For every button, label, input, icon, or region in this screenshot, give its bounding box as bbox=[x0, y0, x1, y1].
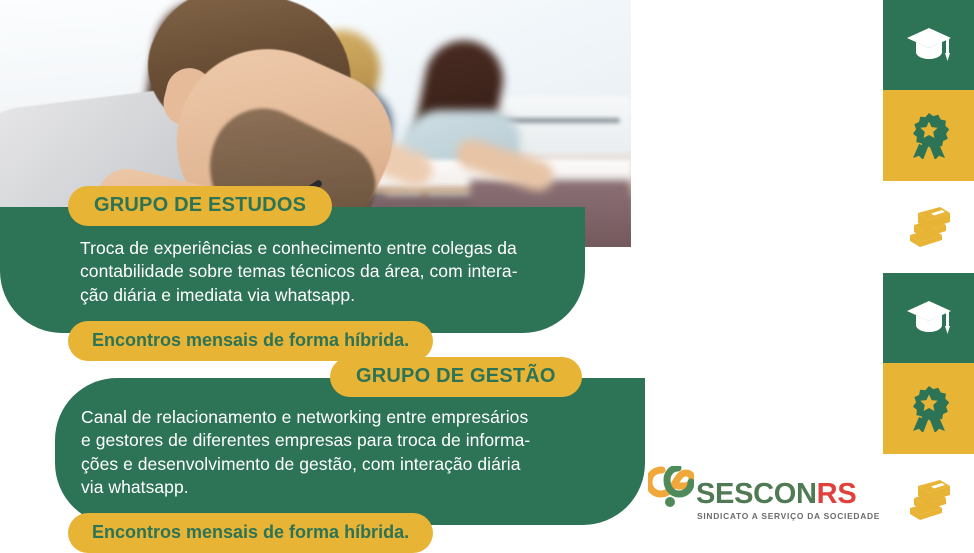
card-grupo-de-gestao: GRUPO DE GESTÃO Canal de relacionamento … bbox=[0, 357, 605, 553]
card-estudos-footer: Encontros mensais de forma híbrida. bbox=[68, 321, 433, 361]
card-gestao-body-line: ções e desenvolvimento de gestão, com in… bbox=[81, 453, 605, 476]
logo-tagline: SINDICATO A SERVIÇO DA SOCIEDADE bbox=[697, 511, 880, 521]
logo-wordmark: SESCONRS bbox=[696, 480, 856, 509]
sescon-infinity-icon bbox=[648, 466, 694, 510]
icon-cell-award-ribbon bbox=[883, 363, 974, 454]
award-ribbon-icon bbox=[907, 386, 951, 432]
books-icon bbox=[905, 478, 953, 522]
graduation-cap-icon bbox=[905, 298, 953, 338]
icon-cell-graduation-cap bbox=[883, 0, 974, 90]
icon-cell-award-ribbon bbox=[883, 90, 974, 181]
card-estudos-body-line: ção diária e imediata via whatsapp. bbox=[80, 284, 549, 307]
card-estudos-body-text: Troca de experiências e conhecimento ent… bbox=[80, 237, 549, 307]
card-gestao-body: Canal de relacionamento e networking ent… bbox=[55, 378, 645, 525]
logo-sescon-text: SESCON bbox=[696, 478, 817, 510]
logo-rs-text: RS bbox=[817, 478, 857, 510]
card-gestao-footer: Encontros mensais de forma híbrida. bbox=[68, 513, 433, 553]
books-icon bbox=[905, 205, 953, 249]
icon-cell-books bbox=[883, 454, 974, 546]
card-gestao-body-line: Canal de relacionamento e networking ent… bbox=[81, 406, 605, 429]
card-gestao-title: GRUPO DE GESTÃO bbox=[330, 357, 582, 397]
sescon-rs-logo: SESCONRS SINDICATO A SERVIÇO DA SOCIEDAD… bbox=[648, 466, 848, 528]
card-gestao-body-text: Canal de relacionamento e networking ent… bbox=[81, 406, 605, 499]
card-estudos-title: GRUPO DE ESTUDOS bbox=[68, 186, 332, 226]
card-grupo-de-estudos: GRUPO DE ESTUDOS Troca de experiências e… bbox=[0, 186, 600, 361]
icon-cell-graduation-cap bbox=[883, 273, 974, 363]
card-estudos-body-line: contabilidade sobre temas técnicos da ár… bbox=[80, 260, 549, 283]
card-gestao-body-line: via whatsapp. bbox=[81, 476, 605, 499]
card-estudos-body-line: Troca de experiências e conhecimento ent… bbox=[80, 237, 549, 260]
card-gestao-body-line: e gestores de diferentes empresas para t… bbox=[81, 429, 605, 452]
right-icon-strip bbox=[883, 0, 974, 547]
icon-cell-books bbox=[883, 181, 974, 273]
award-ribbon-icon bbox=[907, 113, 951, 159]
graduation-cap-icon bbox=[905, 25, 953, 65]
